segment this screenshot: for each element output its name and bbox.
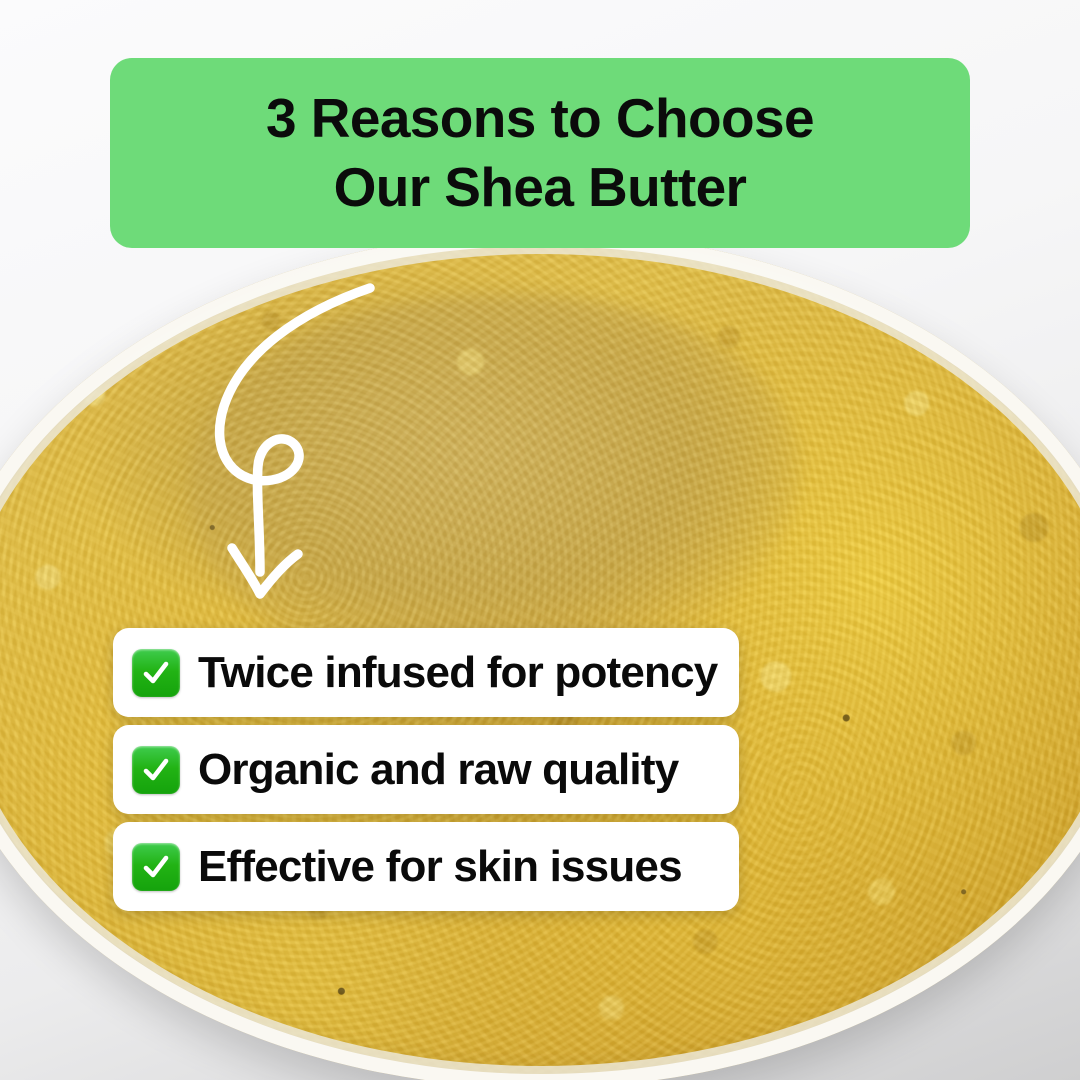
poster-canvas: 3 Reasons to Choose Our Shea Butter Twic… bbox=[0, 0, 1080, 1080]
green-check-mark-icon bbox=[132, 649, 180, 697]
green-check-mark-icon bbox=[132, 746, 180, 794]
benefit-label: Effective for skin issues bbox=[198, 842, 682, 892]
page-title: 3 Reasons to Choose Our Shea Butter bbox=[250, 84, 830, 223]
list-item: Organic and raw quality bbox=[113, 725, 739, 814]
headline-banner: 3 Reasons to Choose Our Shea Butter bbox=[110, 58, 970, 248]
list-item: Twice infused for potency bbox=[113, 628, 739, 717]
benefit-label: Organic and raw quality bbox=[198, 745, 678, 795]
green-check-mark-icon bbox=[132, 843, 180, 891]
benefits-list: Twice infused for potency Organic and ra… bbox=[113, 628, 739, 911]
list-item: Effective for skin issues bbox=[113, 822, 739, 911]
benefit-label: Twice infused for potency bbox=[198, 648, 717, 698]
